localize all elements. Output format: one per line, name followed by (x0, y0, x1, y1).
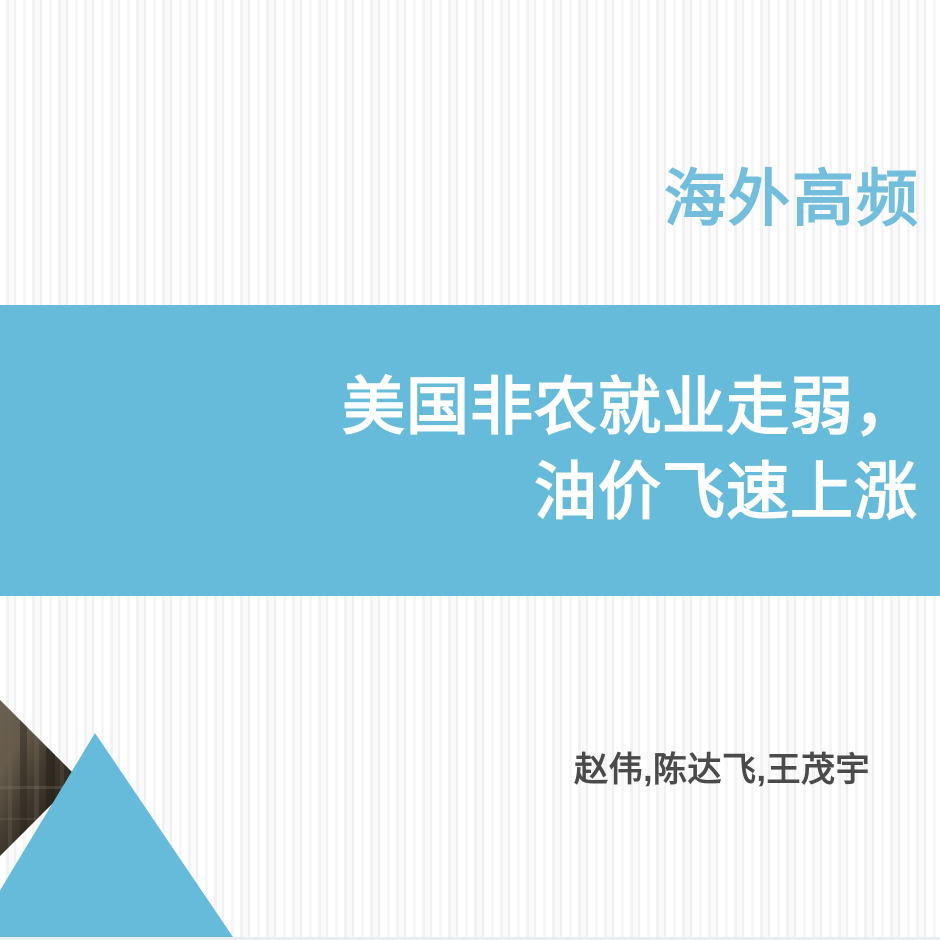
title-band: 美国非农就业走弱， 油价飞速上涨 (0, 305, 940, 596)
title-line-2: 油价飞速上涨 (40, 451, 918, 537)
title-slide: 海外高频 美国非农就业走弱， 油价飞速上涨 赵伟,陈达飞,王茂宇 (0, 0, 940, 940)
series-kicker-label: 海外高频 (0, 166, 920, 234)
bottom-left-decoration (0, 690, 320, 940)
title-line-1: 美国非农就业走弱， (40, 365, 918, 451)
title-text-block: 美国非农就业走弱， 油价飞速上涨 (40, 365, 918, 536)
